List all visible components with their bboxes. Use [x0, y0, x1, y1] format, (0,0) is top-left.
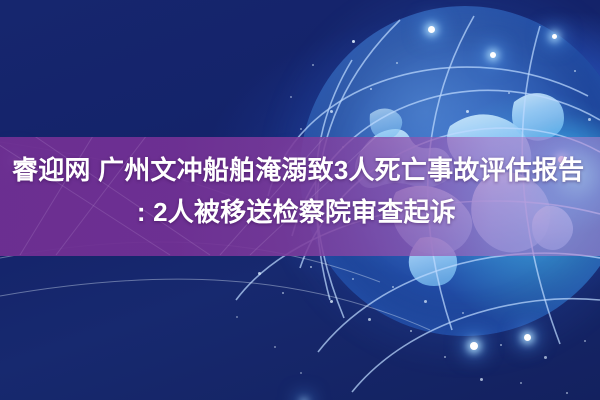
- headline-line-1: 睿迎网 广州文冲船舶淹溺致3人死亡事故评估报告: [12, 149, 588, 191]
- headline-line-2: : 2人被移送检察院审查起诉: [12, 191, 588, 233]
- headline: 睿迎网 广州文冲船舶淹溺致3人死亡事故评估报告 : 2人被移送检察院审查起诉: [0, 137, 600, 256]
- banner-image: 睿迎网 广州文冲船舶淹溺致3人死亡事故评估报告 : 2人被移送检察院审查起诉: [0, 0, 600, 400]
